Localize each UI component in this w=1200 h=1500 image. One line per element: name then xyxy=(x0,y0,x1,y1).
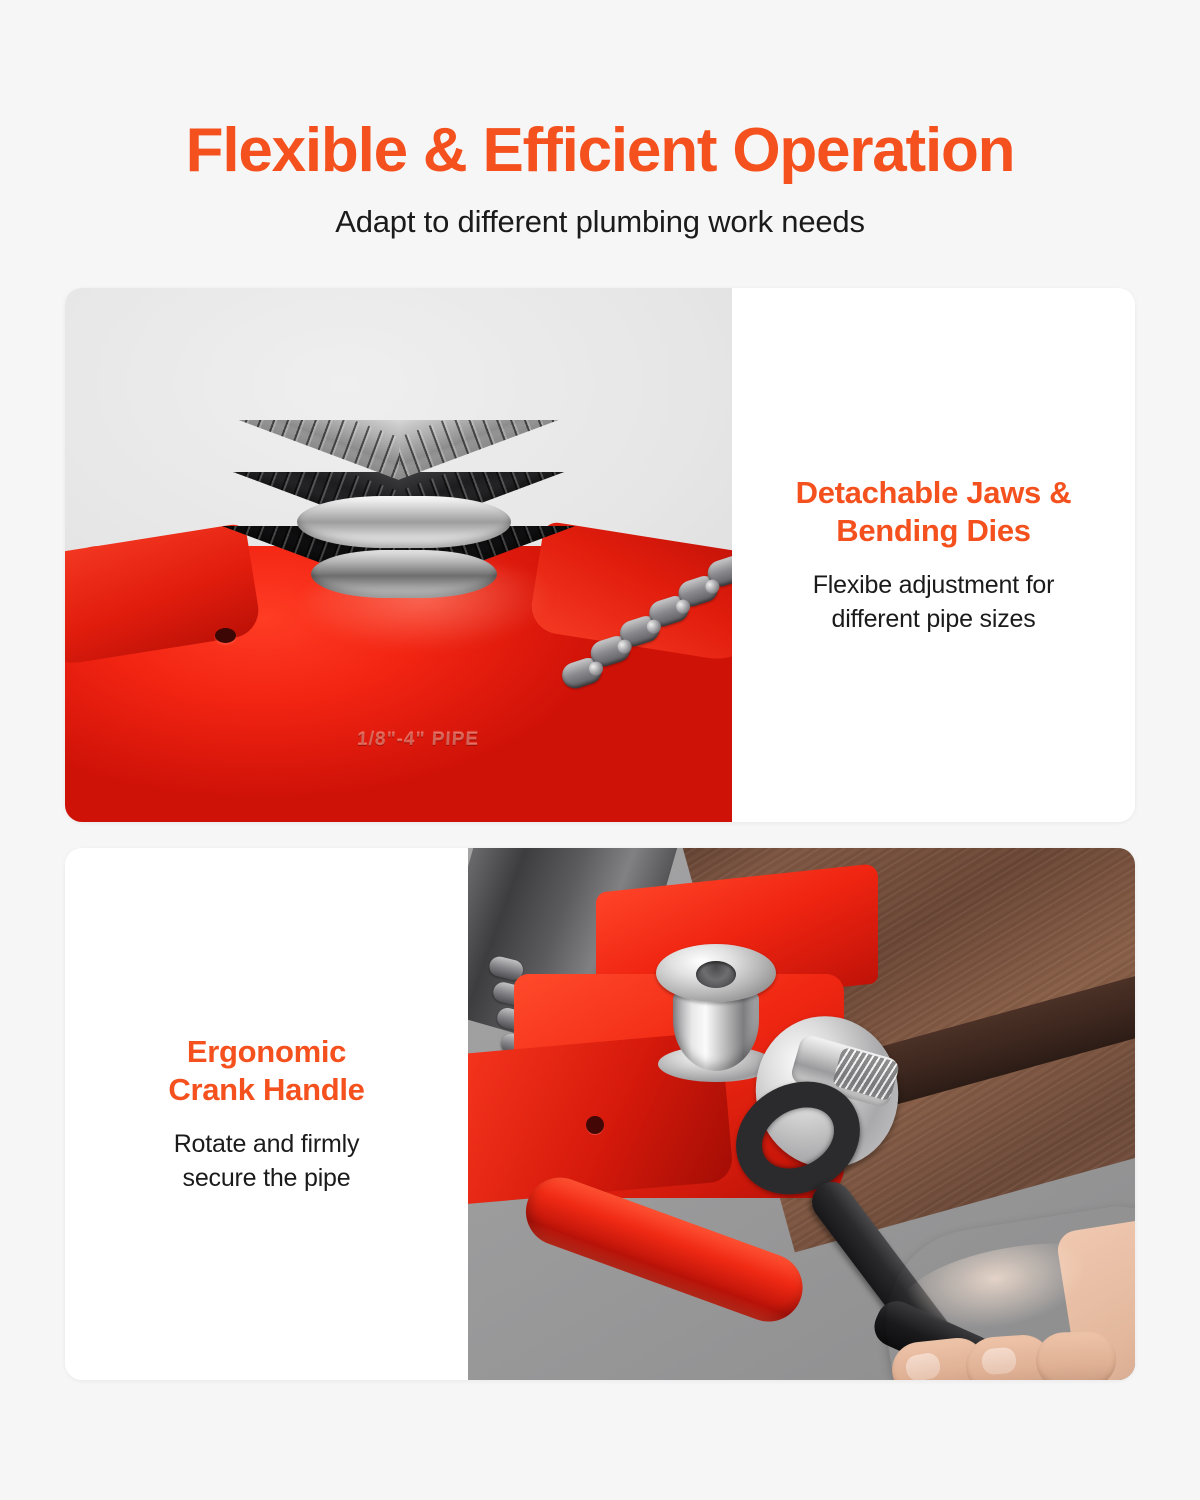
feature-desc-line-2: secure the pipe xyxy=(183,1164,351,1192)
chrome-spool-bench xyxy=(656,944,776,1082)
feature-title-line-1: Ergonomic xyxy=(187,1034,346,1069)
feature-title-crank-handle: Ergonomic Crank Handle xyxy=(168,1033,364,1110)
feature-text-detachable-jaws: Detachable Jaws & Bending Dies Flexibe a… xyxy=(732,288,1135,822)
feature-desc-line-2: different pipe sizes xyxy=(832,605,1036,633)
feature-photo-crank-handle xyxy=(468,848,1135,1380)
finger-3 xyxy=(1035,1331,1117,1380)
feature-desc-detachable-jaws: Flexibe adjustment for different pipe si… xyxy=(813,569,1055,636)
vise-bolt-hole xyxy=(586,1116,604,1134)
feature-desc-line-1: Flexibe adjustment for xyxy=(813,571,1055,599)
feature-title-line-2: Bending Dies xyxy=(836,513,1030,548)
feature-card-detachable-jaws: 1/8"-4" PIPE xyxy=(65,288,1135,822)
feature-title-detachable-jaws: Detachable Jaws & Bending Dies xyxy=(796,474,1072,551)
vise-embossed-marking: 1/8"-4" PIPE xyxy=(302,728,533,752)
feature-title-line-1: Detachable Jaws & xyxy=(796,475,1072,510)
feature-title-line-2: Crank Handle xyxy=(168,1072,364,1107)
page-title: Flexible & Efficient Operation xyxy=(0,118,1200,184)
feature-desc-line-1: Rotate and firmly xyxy=(174,1130,360,1158)
feature-card-crank-handle: Ergonomic Crank Handle Rotate and firmly… xyxy=(65,848,1135,1380)
jaw-top-silver xyxy=(65,420,732,540)
feature-desc-crank-handle: Rotate and firmly secure the pipe xyxy=(174,1128,360,1195)
feature-photo-detachable-jaws: 1/8"-4" PIPE xyxy=(65,288,732,822)
page-subtitle: Adapt to different plumbing work needs xyxy=(0,204,1200,240)
product-feature-infographic: Flexible & Efficient Operation Adapt to … xyxy=(0,0,1200,1500)
feature-text-crank-handle: Ergonomic Crank Handle Rotate and firmly… xyxy=(65,848,468,1380)
header: Flexible & Efficient Operation Adapt to … xyxy=(0,0,1200,240)
